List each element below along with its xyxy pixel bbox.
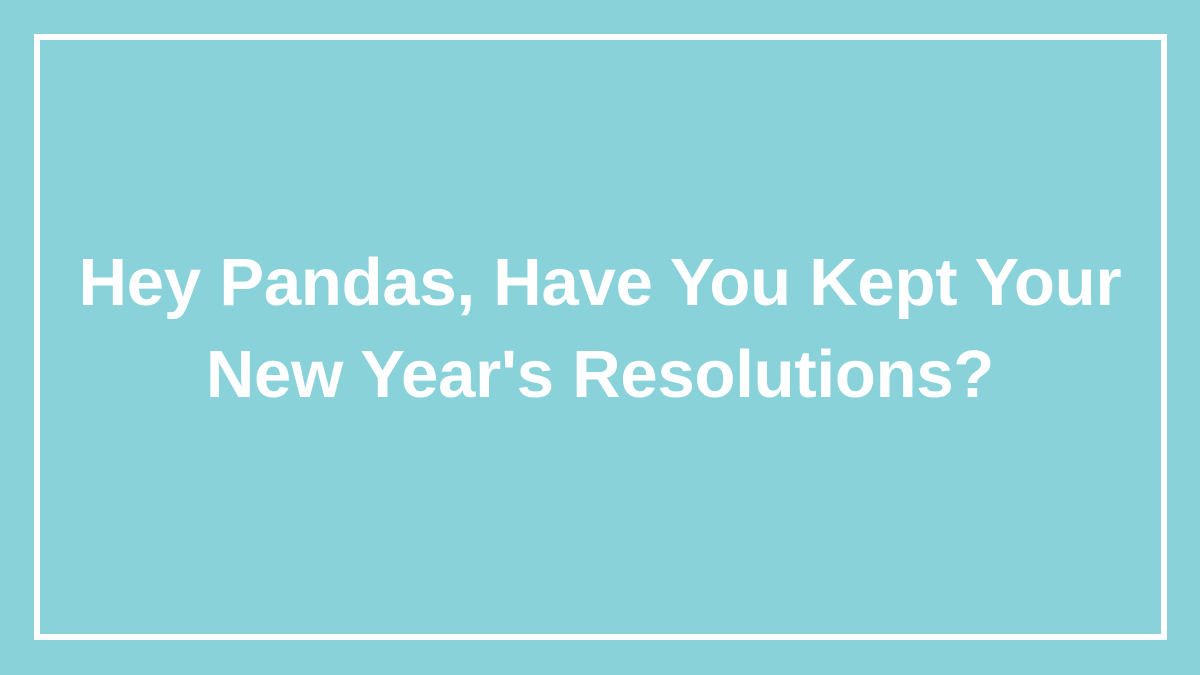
headline-line-2: New Year's Resolutions? (206, 329, 994, 421)
headline-block: Hey Pandas, Have You Kept Your New Year'… (50, 237, 1150, 421)
poster-canvas: Hey Pandas, Have You Kept Your New Year'… (0, 0, 1200, 675)
headline-line-1: Hey Pandas, Have You Kept Your (79, 237, 1122, 329)
